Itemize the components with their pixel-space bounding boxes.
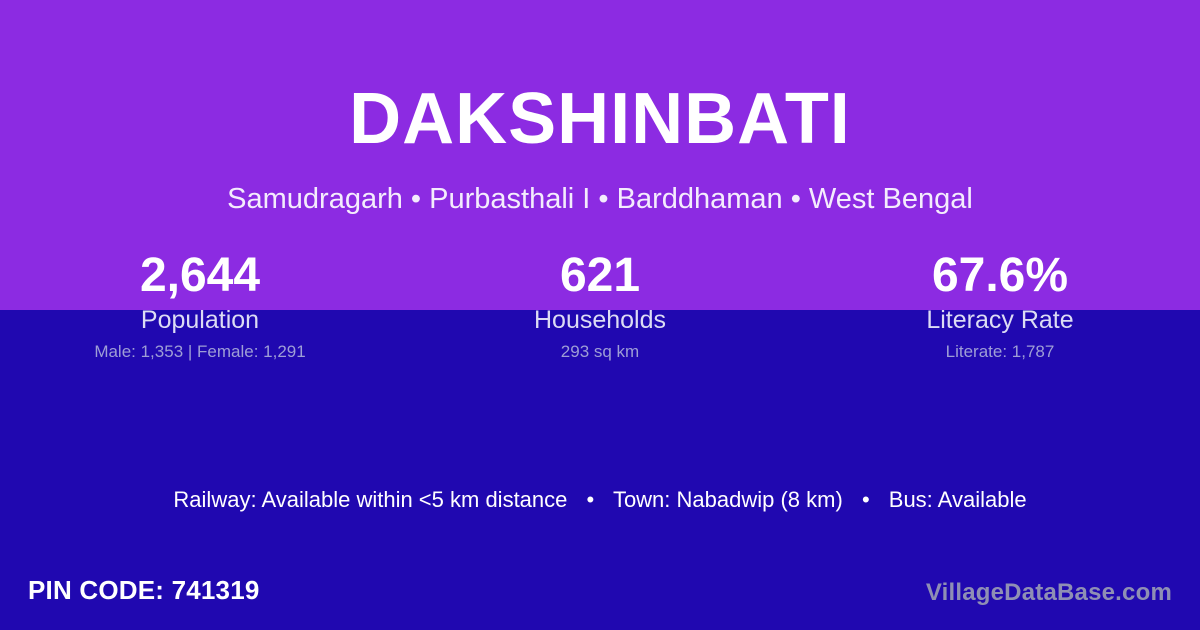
amenity-bus: Bus: Available bbox=[889, 487, 1027, 512]
breadcrumb: Samudragarh • Purbasthali I • Barddhaman… bbox=[0, 182, 1200, 217]
stat-households-detail: 293 sq km bbox=[400, 341, 800, 363]
stat-literacy-detail: Literate: 1,787 bbox=[800, 341, 1200, 363]
stats-row: 2,644 Population Male: 1,353 | Female: 1… bbox=[0, 247, 1200, 363]
bullet-separator-icon: • bbox=[849, 485, 883, 515]
stat-literacy: 67.6% Literacy Rate Literate: 1,787 bbox=[800, 247, 1200, 363]
stat-population: 2,644 Population Male: 1,353 | Female: 1… bbox=[0, 247, 400, 363]
stat-households-value: 621 bbox=[400, 247, 800, 304]
amenity-railway: Railway: Available within <5 km distance bbox=[173, 487, 567, 512]
stat-population-value: 2,644 bbox=[0, 247, 400, 304]
page-title: DAKSHINBATI bbox=[0, 83, 1200, 155]
site-brand: VillageDataBase.com bbox=[926, 578, 1172, 608]
amenities-line: Railway: Available within <5 km distance… bbox=[0, 485, 1200, 515]
amenity-town: Town: Nabadwip (8 km) bbox=[613, 487, 843, 512]
bullet-separator-icon: • bbox=[574, 485, 608, 515]
stat-population-detail: Male: 1,353 | Female: 1,291 bbox=[0, 341, 400, 363]
stat-households: 621 Households 293 sq km bbox=[400, 247, 800, 363]
stat-literacy-value: 67.6% bbox=[800, 247, 1200, 304]
village-info-card: DAKSHINBATI Samudragarh • Purbasthali I … bbox=[0, 0, 1200, 630]
stat-population-label: Population bbox=[0, 305, 400, 336]
pin-code: PIN CODE: 741319 bbox=[28, 574, 260, 606]
stat-households-label: Households bbox=[400, 305, 800, 336]
stat-literacy-label: Literacy Rate bbox=[800, 305, 1200, 336]
